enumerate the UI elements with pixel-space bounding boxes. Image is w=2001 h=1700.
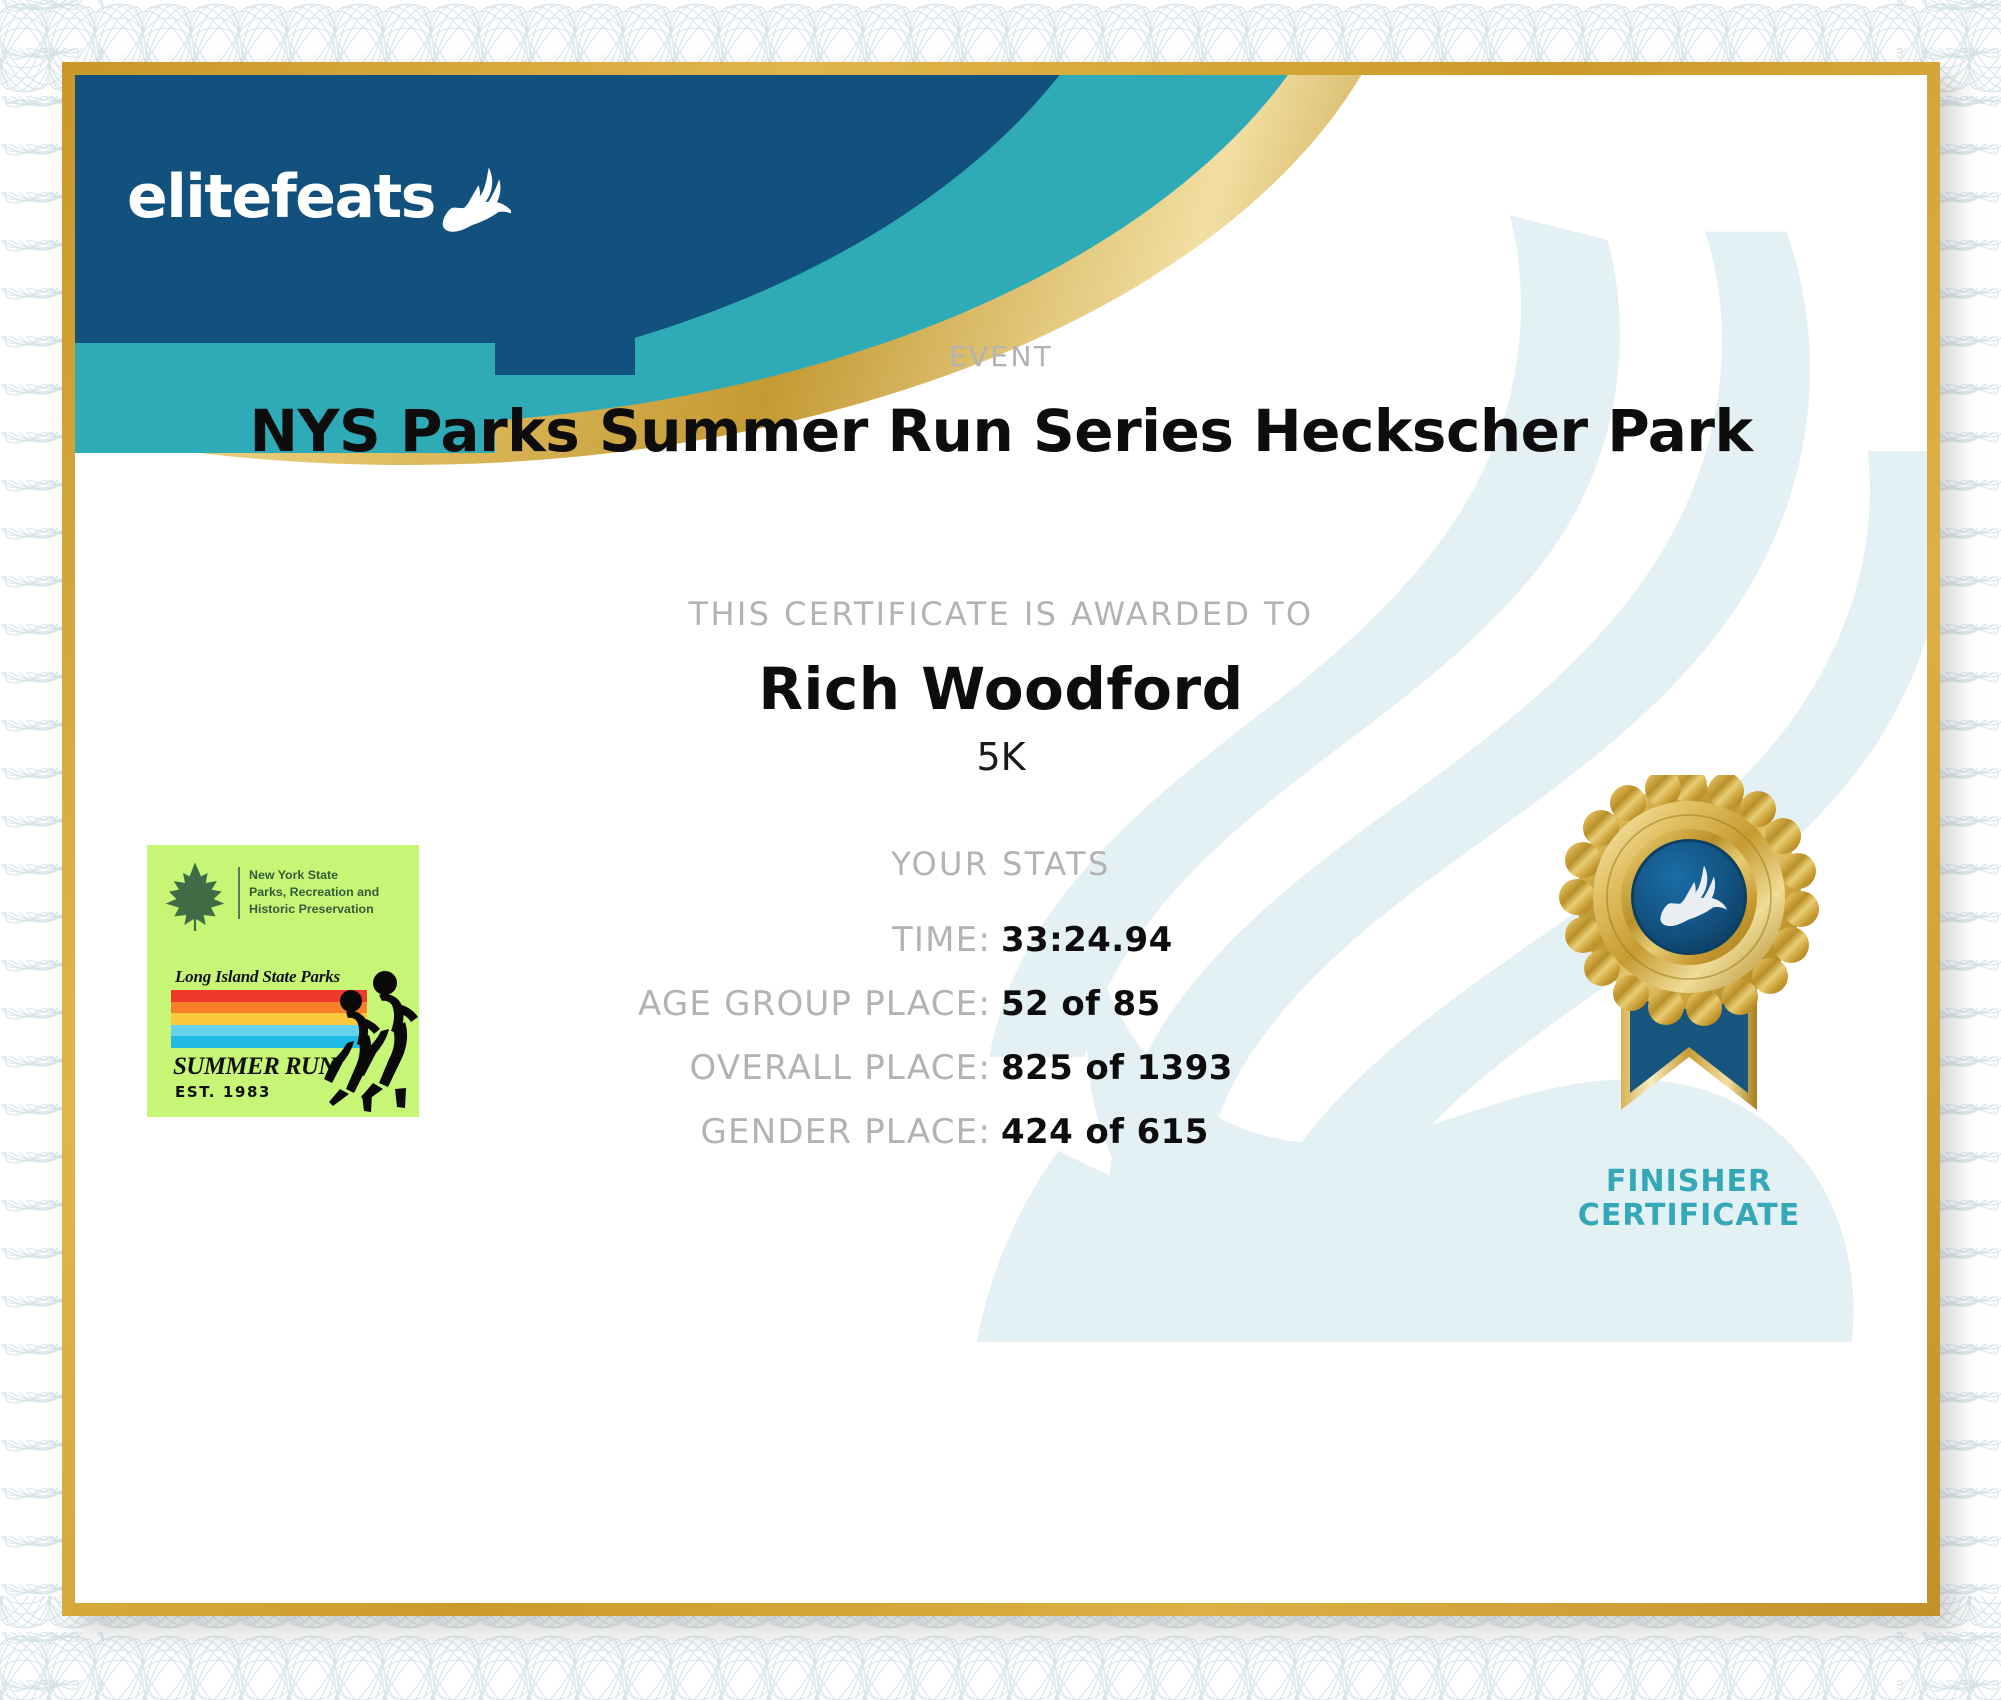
nys-parks-agency-lockup: New York State Parks, Recreation and His…	[161, 861, 379, 933]
event-label: EVENT	[75, 340, 1927, 373]
caption-line-2: CERTIFICATE	[1529, 1199, 1849, 1233]
stat-value: 424 of 615	[1001, 1112, 1471, 1152]
certificate-canvas: elitefeats EVENT NYS Parks Summer Run Se…	[75, 75, 1927, 1603]
recipient-name: Rich Woodford	[75, 655, 1927, 723]
race-distance: 5K	[75, 735, 1927, 779]
agency-line-3: Historic Preservation	[249, 901, 379, 918]
established-year: EST. 1983	[175, 1083, 271, 1101]
agency-name: New York State Parks, Recreation and His…	[249, 861, 379, 918]
stat-value: 33:24.94	[1001, 920, 1471, 960]
stat-key: OVERALL PLACE:	[531, 1048, 1001, 1088]
medal-graphic: 2022	[1529, 775, 1849, 1175]
gold-border-frame: elitefeats EVENT NYS Parks Summer Run Se…	[62, 62, 1940, 1616]
elitefeats-logo: elitefeats	[127, 157, 511, 237]
awarded-to-label: THIS CERTIFICATE IS AWARDED TO	[75, 595, 1927, 633]
agency-line-1: New York State	[249, 867, 379, 884]
stat-key: AGE GROUP PLACE:	[531, 984, 1001, 1024]
event-title: NYS Parks Summer Run Series Heckscher Pa…	[75, 397, 1927, 465]
finisher-medal: 2022	[1529, 775, 1849, 1245]
certificate-page: elitefeats EVENT NYS Parks Summer Run Se…	[0, 0, 2001, 1700]
winged-foot-icon	[437, 163, 511, 237]
summer-run-lockup: Long Island State Parks SUMMER RUN EST. …	[147, 967, 419, 1117]
medal-rosette	[1559, 775, 1819, 1026]
stat-key: TIME:	[531, 920, 1001, 960]
medal-caption: FINISHER CERTIFICATE	[1529, 1165, 1849, 1233]
agency-line-2: Parks, Recreation and	[249, 884, 379, 901]
runners-silhouette-icon	[301, 961, 419, 1117]
brand-wordmark: elitefeats	[127, 167, 435, 227]
stat-key: GENDER PLACE:	[531, 1112, 1001, 1152]
nys-parks-summer-run-logo: New York State Parks, Recreation and His…	[147, 845, 419, 1117]
caption-line-1: FINISHER	[1529, 1165, 1849, 1199]
logo-divider	[238, 867, 240, 919]
maple-leaf-icon	[161, 861, 229, 933]
stat-value: 52 of 85	[1001, 984, 1471, 1024]
stat-value: 825 of 1393	[1001, 1048, 1471, 1088]
